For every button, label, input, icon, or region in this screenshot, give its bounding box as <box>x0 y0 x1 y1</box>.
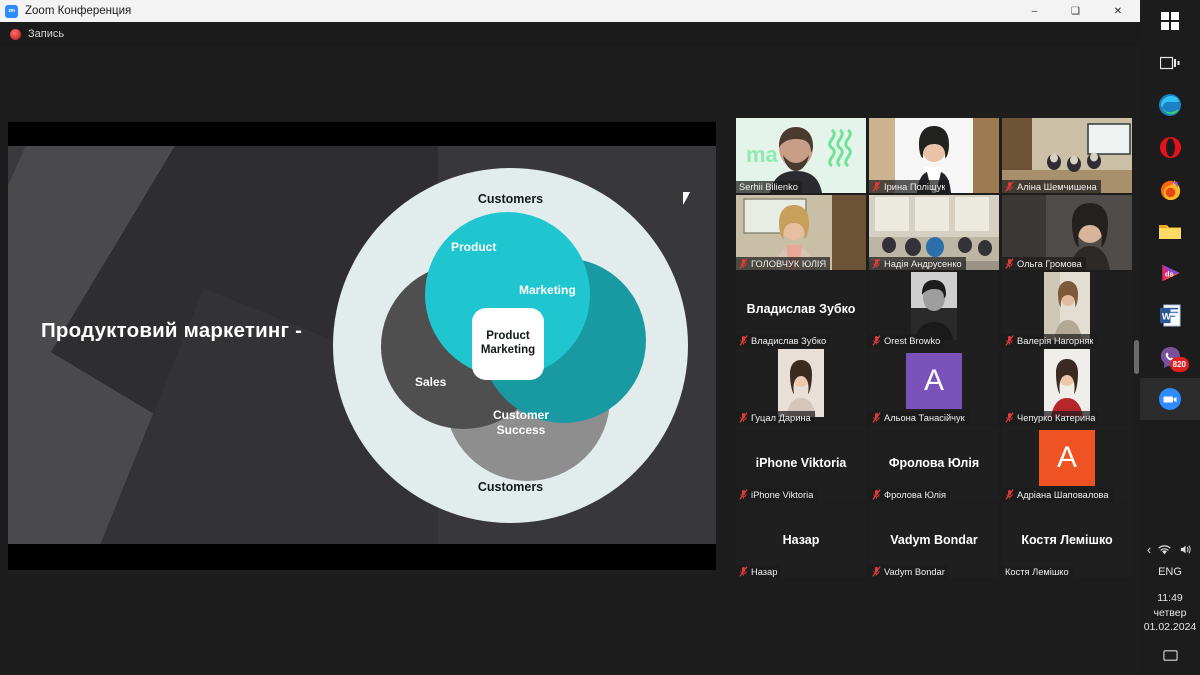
recording-bar: Запись <box>0 22 1140 46</box>
chevron-up-icon[interactable]: ‹ <box>1147 542 1151 557</box>
slide-title: Продуктовий маркетинг - <box>41 318 341 344</box>
volume-icon[interactable] <box>1178 543 1193 556</box>
wifi-icon[interactable] <box>1157 543 1172 556</box>
window-controls: – ❑ ✕ <box>1014 0 1140 22</box>
participant-name: Фролова Юлія <box>884 490 946 500</box>
avatar: A <box>1039 430 1095 486</box>
participant-name-bar: Адріана Шаповалова <box>1002 488 1113 501</box>
edge-icon[interactable] <box>1140 84 1200 126</box>
participant-tile[interactable]: maSerhii Bilienko <box>736 118 866 193</box>
window-titlebar: zm Zoom Конференция – ❑ ✕ <box>0 0 1140 22</box>
participant-name: ГОЛОВЧУК ЮЛІЯ <box>751 259 826 269</box>
participant-tile[interactable]: iPhone ViktoriaiPhone Viktoria <box>736 426 866 501</box>
avatar: A <box>906 353 962 409</box>
participant-tile[interactable]: Гуцал Дарина <box>736 349 866 424</box>
maximize-button[interactable]: ❑ <box>1055 0 1096 22</box>
participant-tile[interactable]: ГОЛОВЧУК ЮЛІЯ <box>736 195 866 270</box>
svg-text:W: W <box>1161 311 1170 322</box>
profile-photo <box>778 349 824 417</box>
scrollbar-thumb[interactable] <box>1134 340 1139 374</box>
participant-name: Валерія Нагорняк <box>1017 336 1093 346</box>
participant-name-bar: Надія Андрусенко <box>869 257 966 270</box>
participant-name: Vadym Bondar <box>884 567 945 577</box>
participant-name-bar: Ірина Поліщук <box>869 180 949 193</box>
participant-name-bar: Serhii Bilienko <box>736 181 802 193</box>
participant-tile[interactable]: Ольга Громова <box>1002 195 1132 270</box>
participant-name-bar: Костя Лемішко <box>1002 566 1073 578</box>
participant-name-bar: ГОЛОВЧУК ЮЛІЯ <box>736 257 830 270</box>
svg-text:ds: ds <box>1165 270 1174 279</box>
participant-name-bar: iPhone Viktoria <box>736 488 817 501</box>
participant-name: Альона Танасійчук <box>884 413 965 423</box>
clock-date[interactable]: 01.02.2024 <box>1144 620 1197 634</box>
label-product: Product <box>451 240 496 254</box>
participant-tile[interactable]: Костя ЛемішкоКостя Лемішко <box>1002 503 1132 578</box>
profile-photo <box>1044 272 1090 340</box>
start-icon[interactable] <box>1140 0 1200 42</box>
outer-top-label: Customers <box>333 192 688 206</box>
participant-name: Назар <box>751 567 777 577</box>
participant-name: Надія Андрусенко <box>884 259 962 269</box>
mic-muted-icon <box>1005 258 1014 269</box>
mic-muted-icon <box>1005 335 1014 346</box>
participant-tile[interactable]: Чепурко Катерина <box>1002 349 1132 424</box>
close-button[interactable]: ✕ <box>1096 0 1140 22</box>
mic-muted-icon <box>872 258 881 269</box>
clock-weekday[interactable]: четвер <box>1154 606 1187 620</box>
participant-name-bar: Альона Танасійчук <box>869 411 969 424</box>
mic-muted-icon <box>739 258 748 269</box>
recording-label: Запись <box>28 28 64 40</box>
firefox-icon[interactable] <box>1140 168 1200 210</box>
participant-name-bar: Фролова Юлія <box>869 488 950 501</box>
participant-name-bar: Vadym Bondar <box>869 565 949 578</box>
participant-tile[interactable]: AАльона Танасійчук <box>869 349 999 424</box>
language-indicator[interactable]: ENG <box>1158 566 1182 578</box>
desktop: zm Zoom Конференция – ❑ ✕ Запись Продукт… <box>0 0 1200 675</box>
participant-name: iPhone Viktoria <box>751 490 813 500</box>
participant-tile[interactable]: Ірина Поліщук <box>869 118 999 193</box>
opera-icon[interactable] <box>1140 126 1200 168</box>
slide-canvas: Продуктовий маркетинг - Customers Custom… <box>8 146 716 544</box>
participant-name-bar: Валерія Нагорняк <box>1002 334 1097 347</box>
participants-scrollbar[interactable] <box>1134 112 1139 574</box>
tray-icons: ‹ <box>1147 542 1193 557</box>
participant-name-bar: Владислав Зубко <box>736 334 830 347</box>
record-dot-icon <box>10 29 21 40</box>
taskbar-icons: dsW820 <box>1140 0 1200 420</box>
participant-name: Владислав Зубко <box>751 336 826 346</box>
mic-muted-icon <box>872 489 881 500</box>
zoom-icon[interactable] <box>1140 378 1200 420</box>
profile-photo <box>911 272 957 340</box>
viber-icon[interactable]: 820 <box>1140 336 1200 378</box>
zoom-icon: zm <box>5 5 18 18</box>
mic-muted-icon <box>872 181 881 192</box>
participant-name-bar: Чепурко Катерина <box>1002 411 1099 424</box>
center-label-line2: Marketing <box>481 344 535 356</box>
mic-muted-icon <box>739 335 748 346</box>
participant-tile[interactable]: Фролова ЮліяФролова Юлія <box>869 426 999 501</box>
participant-name: Гуцал Дарина <box>751 413 811 423</box>
outer-bottom-label: Customers <box>333 480 688 494</box>
participant-name: Костя Лемішко <box>1005 567 1069 577</box>
participant-name-bar: Назар <box>736 565 781 578</box>
participants-grid: maSerhii BilienkoІрина ПоліщукАліна Шемч… <box>736 118 1132 578</box>
participant-tile[interactable]: AАдріана Шаповалова <box>1002 426 1132 501</box>
participant-tile[interactable]: Orest Browko <box>869 272 999 347</box>
word-icon[interactable]: W <box>1140 294 1200 336</box>
participant-name-bar: Orest Browko <box>869 334 944 347</box>
ds-media-icon[interactable]: ds <box>1140 252 1200 294</box>
participant-name-bar: Ольга Громова <box>1002 257 1086 270</box>
label-customer-success-line1: Customer <box>493 408 549 422</box>
label-customer-success: Customer Success <box>481 408 561 438</box>
participant-name-bar: Аліна Шемчишена <box>1002 180 1101 193</box>
participant-name: Чепурко Катерина <box>1017 413 1095 423</box>
svg-text:ma: ma <box>746 142 779 167</box>
mic-muted-icon <box>872 412 881 423</box>
label-customer-success-line2: Success <box>497 423 546 437</box>
window-title: Zoom Конференция <box>25 5 131 17</box>
mouse-cursor <box>683 192 690 205</box>
shared-screen-area: Продуктовий маркетинг - Customers Custom… <box>0 46 724 581</box>
participant-name: Orest Browko <box>884 336 940 346</box>
system-tray: ‹ ENG 11:49 четвер 01.02.2024 <box>1140 542 1200 675</box>
center-label-line1: Product <box>486 330 529 342</box>
label-sales: Sales <box>415 375 446 389</box>
participants-panel: maSerhii BilienkoІрина ПоліщукАліна Шемч… <box>730 112 1140 574</box>
notification-icon[interactable] <box>1162 648 1179 663</box>
participant-name: Аліна Шемчишена <box>1017 182 1097 192</box>
mic-muted-icon <box>739 489 748 500</box>
mic-muted-icon <box>1005 489 1014 500</box>
minimize-button[interactable]: – <box>1014 0 1055 22</box>
participant-tile[interactable]: НазарНазар <box>736 503 866 578</box>
participant-tile[interactable]: Владислав ЗубкоВладислав Зубко <box>736 272 866 347</box>
participant-tile[interactable]: Аліна Шемчишена <box>1002 118 1132 193</box>
participant-name-bar: Гуцал Дарина <box>736 411 815 424</box>
center-label-box: Product Marketing <box>472 308 544 380</box>
participant-tile[interactable]: Надія Андрусенко <box>869 195 999 270</box>
profile-photo <box>1044 349 1090 417</box>
venn-diagram: Customers Customers Product Marketing Sa… <box>333 168 688 523</box>
label-marketing: Marketing <box>519 283 576 297</box>
clock-time[interactable]: 11:49 <box>1157 591 1183 605</box>
participant-name: Serhii Bilienko <box>739 182 798 192</box>
shared-slide[interactable]: Продуктовий маркетинг - Customers Custom… <box>8 122 716 570</box>
mic-muted-icon <box>872 335 881 346</box>
participant-tile[interactable]: Vadym BondarVadym Bondar <box>869 503 999 578</box>
zoom-window: zm Zoom Конференция – ❑ ✕ Запись Продукт… <box>0 0 1140 675</box>
mic-muted-icon <box>1005 412 1014 423</box>
participant-name: Ірина Поліщук <box>884 182 945 192</box>
mic-muted-icon <box>1005 181 1014 192</box>
mic-muted-icon <box>739 566 748 577</box>
notification-badge: 820 <box>1170 357 1189 372</box>
file-explorer-icon[interactable] <box>1140 210 1200 252</box>
mic-muted-icon <box>872 566 881 577</box>
participant-tile[interactable]: Валерія Нагорняк <box>1002 272 1132 347</box>
participant-name: Адріана Шаповалова <box>1017 490 1109 500</box>
task-view-icon[interactable] <box>1140 42 1200 84</box>
windows-taskbar: dsW820 ‹ ENG 11:49 четвер 01.02.2024 <box>1140 0 1200 675</box>
center-label: Product Marketing <box>481 330 535 358</box>
mic-muted-icon <box>739 412 748 423</box>
participant-name: Ольга Громова <box>1017 259 1082 269</box>
